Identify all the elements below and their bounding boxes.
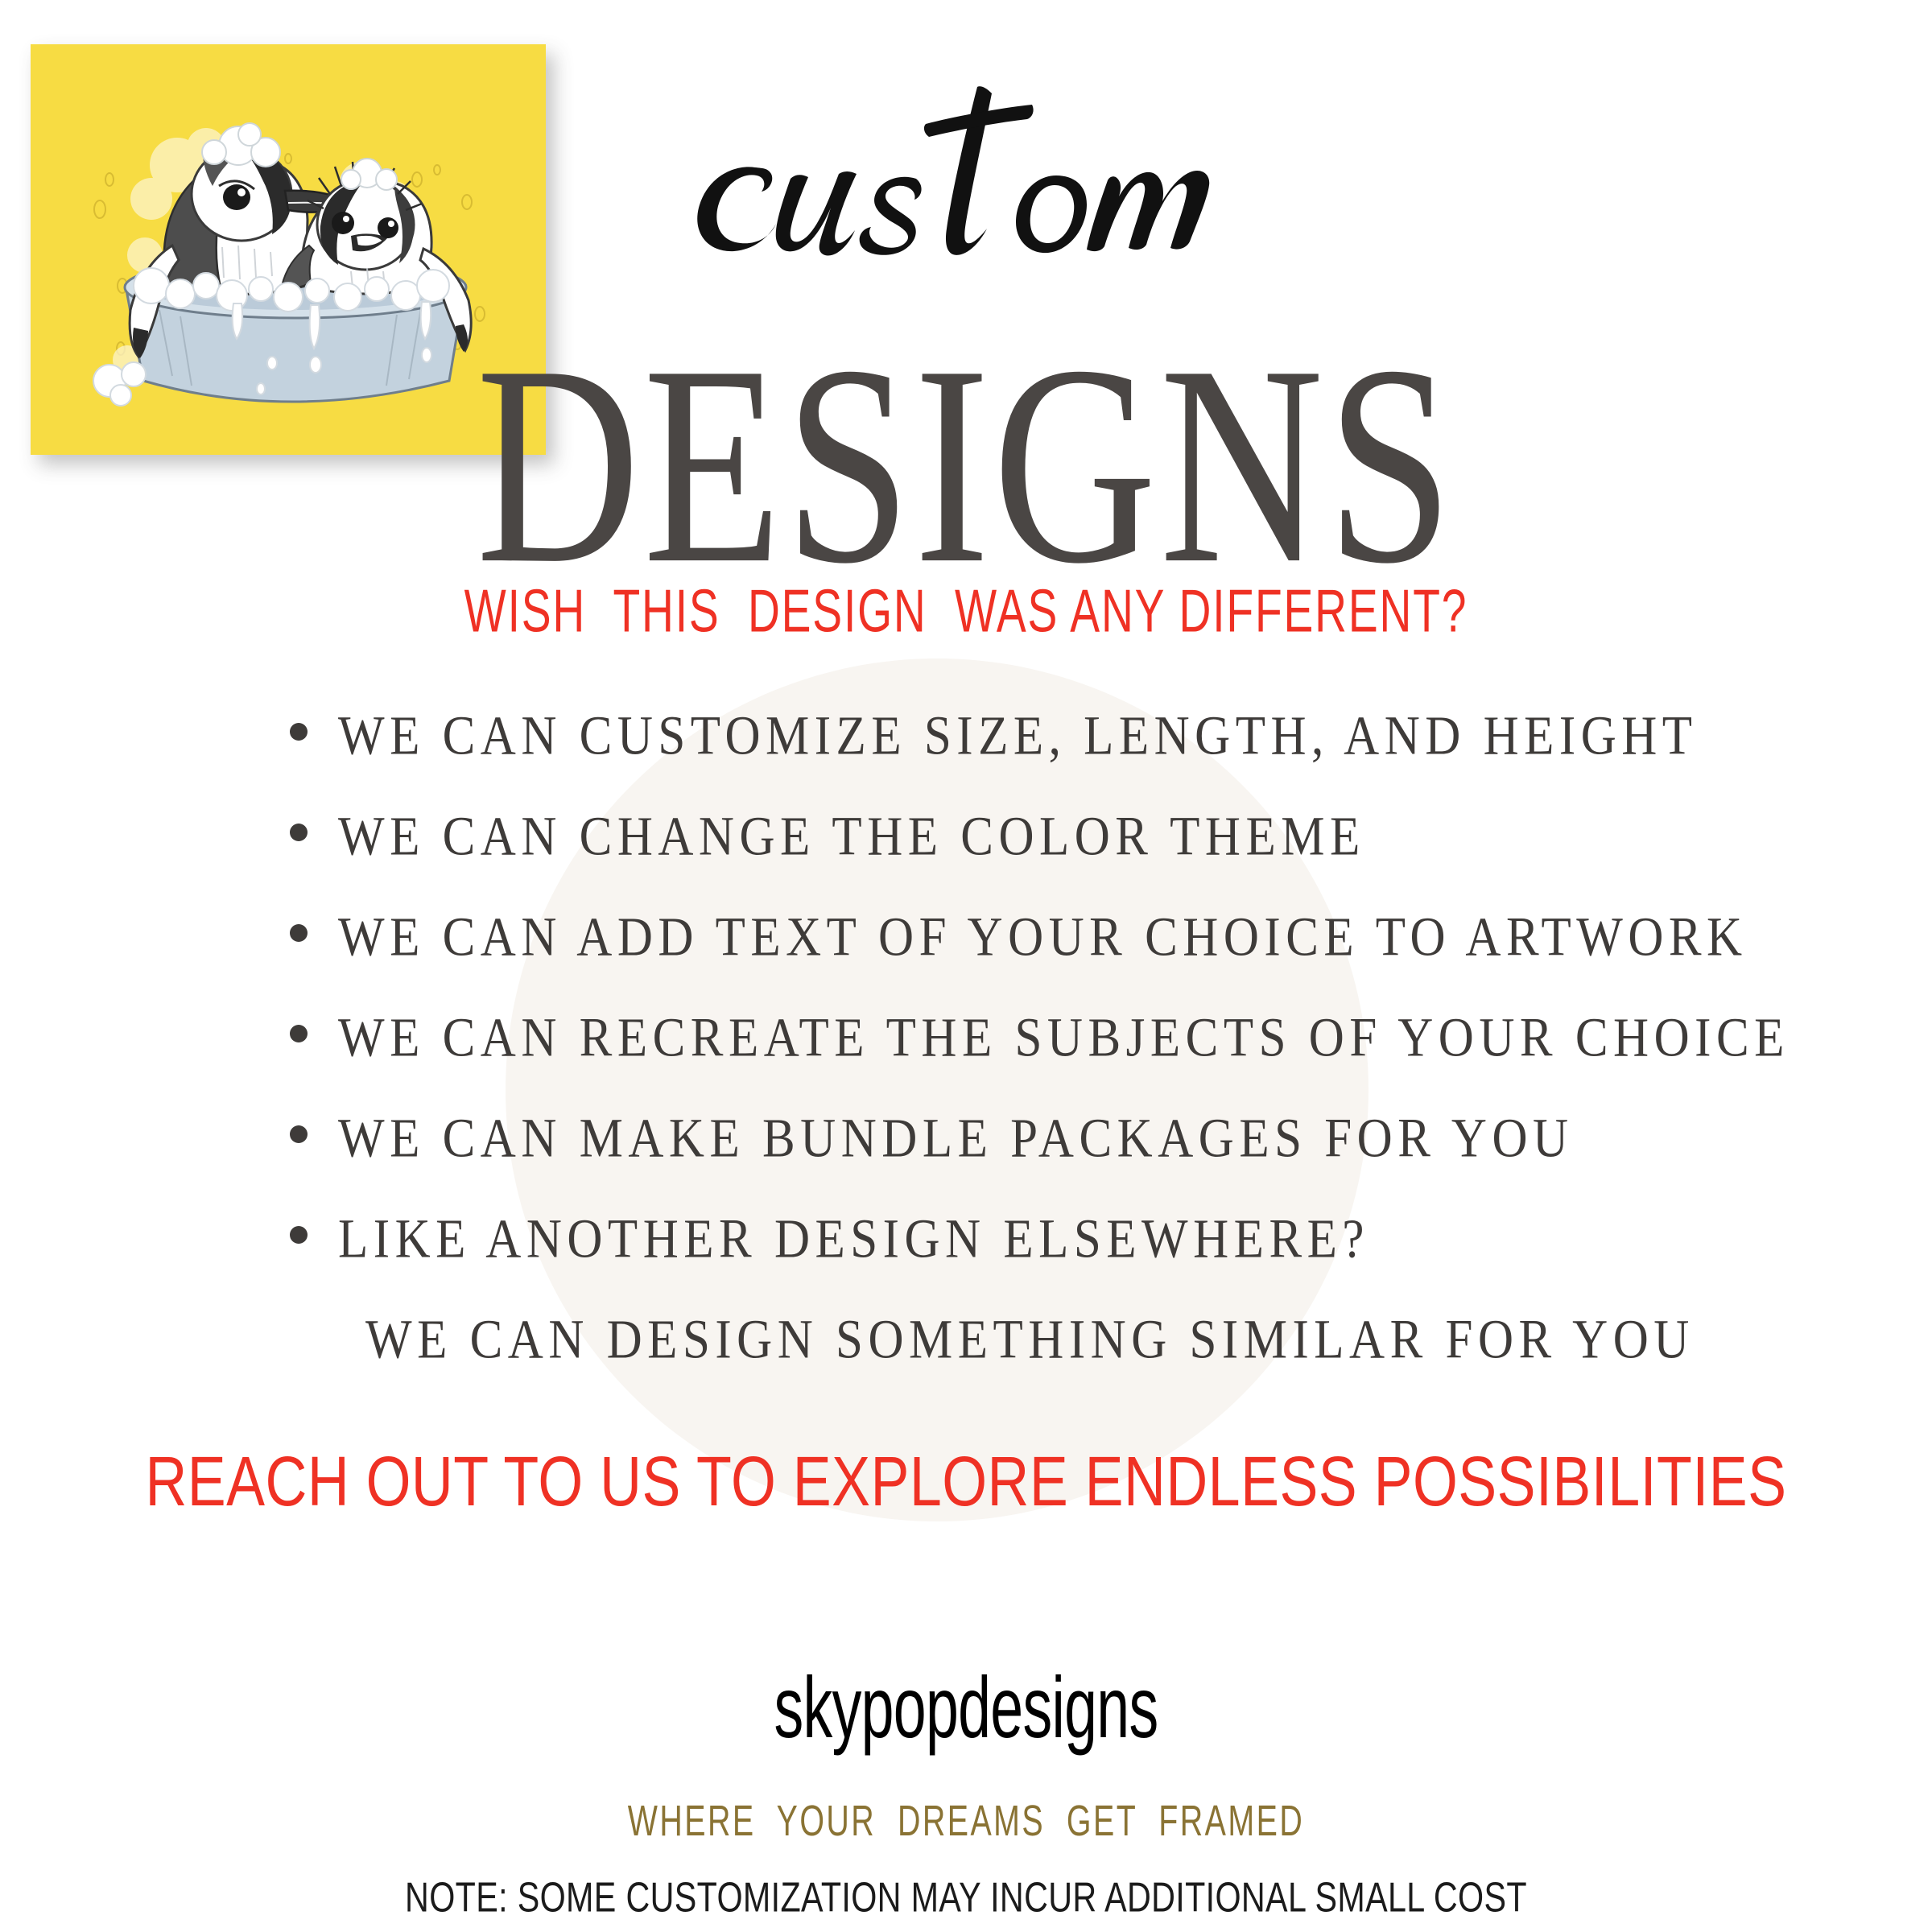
call-to-action-text: REACH OUT TO US TO EXPLORE ENDLESS POSSI… — [29, 1441, 1903, 1521]
list-item: WE CAN CHANGE THE COLOR THEME — [0, 809, 1932, 910]
bullet-dot-icon — [290, 723, 308, 741]
list-item: WE CAN ADD TEXT OF YOUR CHOICE TO ARTWOR… — [0, 910, 1932, 1010]
bullet-dot-icon — [290, 1226, 308, 1244]
bullet-dot-icon — [290, 1125, 308, 1143]
list-item-label: WE CAN CUSTOMIZE SIZE, LENGTH, AND HEIGH… — [338, 705, 1698, 768]
list-item: WE CAN RECREATE THE SUBJECTS OF YOUR CHO… — [0, 1010, 1932, 1111]
list-item: WE CAN MAKE BUNDLE PACKAGES FOR YOU — [0, 1111, 1932, 1212]
list-item-label: WE CAN ADD TEXT OF YOUR CHOICE TO ARTWOR… — [338, 906, 1748, 969]
subtitle-question: WISH THIS DESIGN WAS ANY DIFFERENT? — [77, 576, 1855, 646]
list-item: LIKE ANOTHER DESIGN ELSEWHERE? — [0, 1212, 1932, 1312]
bullet-dot-icon — [290, 824, 308, 841]
list-item-label: WE CAN MAKE BUNDLE PACKAGES FOR YOU — [338, 1108, 1574, 1170]
bullet-dot-icon — [290, 1025, 308, 1042]
list-item: WE CAN CUSTOMIZE SIZE, LENGTH, AND HEIGH… — [0, 708, 1932, 809]
list-item-continuation: WE CAN DESIGN SOMETHING SIMILAR FOR YOU — [0, 1312, 1932, 1413]
list-item-label: LIKE ANOTHER DESIGN ELSEWHERE? — [338, 1208, 1369, 1271]
custom-designs-poster: DESIGNS WISH THIS DESIGN WAS ANY DIFFERE… — [0, 0, 1932, 1932]
list-item-label: WE CAN DESIGN SOMETHING SIMILAR FOR YOU — [365, 1309, 1695, 1372]
bullet-dot-icon — [290, 924, 308, 942]
list-item-label: WE CAN CHANGE THE COLOR THEME — [338, 806, 1365, 869]
feature-list: WE CAN CUSTOMIZE SIZE, LENGTH, AND HEIGH… — [0, 708, 1932, 1413]
footer-note: NOTE: SOME CUSTOMIZATION MAY INCUR ADDIT… — [135, 1874, 1797, 1922]
brand-tagline: WHERE YOUR DREAMS GET FRAMED — [174, 1797, 1758, 1847]
list-item-label: WE CAN RECREATE THE SUBJECTS OF YOUR CHO… — [338, 1007, 1790, 1070]
brand-logo-text: skypopdesigns — [309, 1657, 1623, 1757]
page-title: DESIGNS — [58, 322, 1874, 607]
